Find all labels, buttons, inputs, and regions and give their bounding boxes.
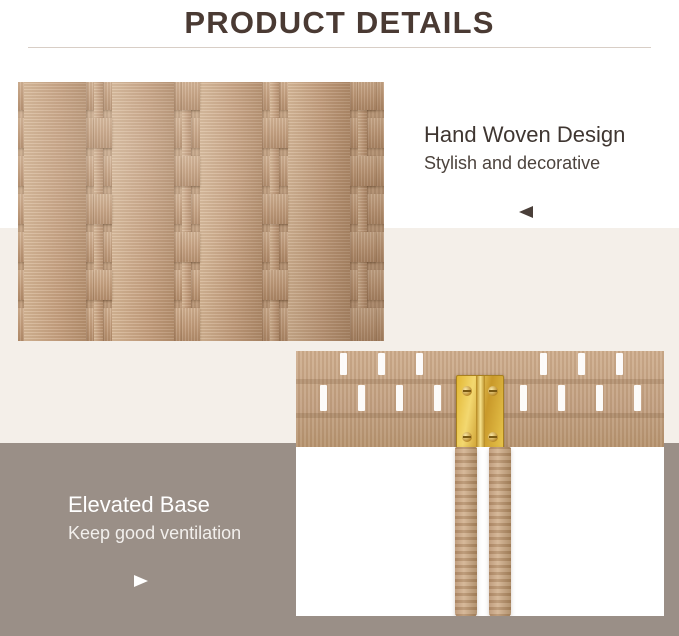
weave-slot bbox=[396, 385, 403, 411]
page-title: PRODUCT DETAILS bbox=[0, 0, 679, 46]
feature-subtitle: Stylish and decorative bbox=[424, 153, 625, 174]
header: PRODUCT DETAILS bbox=[0, 0, 679, 48]
feature-elevated-base: Elevated Base Keep good ventilation bbox=[68, 492, 241, 544]
weave-strip bbox=[270, 194, 288, 224]
weave-slot bbox=[358, 385, 365, 411]
hinge-knuckle bbox=[476, 376, 485, 452]
hinge-screw bbox=[462, 386, 472, 396]
woven-texture-photo bbox=[18, 82, 384, 341]
weave-strip bbox=[182, 82, 200, 110]
feature-hand-woven-design: Hand Woven Design Stylish and decorative bbox=[424, 122, 625, 174]
weave-slot bbox=[340, 353, 347, 375]
product-details-page: PRODUCT DETAILS bbox=[0, 0, 679, 636]
hinge-screw bbox=[488, 432, 498, 442]
weave-strip bbox=[94, 118, 112, 148]
weave-slot bbox=[434, 385, 441, 411]
weave-slot bbox=[540, 353, 547, 375]
arrow-left-icon bbox=[519, 206, 533, 218]
weave-strip bbox=[200, 82, 262, 341]
weave-strip bbox=[358, 308, 376, 341]
header-divider bbox=[28, 47, 651, 48]
weave-strip bbox=[358, 82, 367, 341]
feature-title: Elevated Base bbox=[68, 492, 241, 518]
weave-strip bbox=[270, 270, 288, 300]
weave-strip bbox=[94, 270, 112, 300]
weave-strip bbox=[358, 82, 376, 110]
feature-subtitle: Keep good ventilation bbox=[68, 523, 241, 544]
weave-slot bbox=[596, 385, 603, 411]
weave-strip bbox=[112, 82, 174, 341]
hinge-screw bbox=[462, 432, 472, 442]
arrow-right-icon bbox=[134, 575, 148, 587]
hinge-corner-photo bbox=[296, 351, 664, 616]
weave-strip bbox=[288, 82, 350, 341]
weave-strip bbox=[182, 156, 200, 186]
weave-slot bbox=[320, 385, 327, 411]
weave-strip bbox=[182, 308, 200, 341]
weave-slot bbox=[634, 385, 641, 411]
gold-hinge-icon bbox=[456, 375, 504, 453]
weave-strip bbox=[24, 82, 86, 341]
weave-strip bbox=[182, 82, 191, 341]
weave-strip bbox=[358, 232, 376, 262]
leg bbox=[455, 447, 477, 616]
hinge-photo-background bbox=[296, 447, 664, 616]
weave-strip bbox=[94, 194, 112, 224]
weave-slot bbox=[578, 353, 585, 375]
weave-slot bbox=[616, 353, 623, 375]
feature-title: Hand Woven Design bbox=[424, 122, 625, 148]
weave-slot bbox=[558, 385, 565, 411]
weave-slot bbox=[520, 385, 527, 411]
leg bbox=[489, 447, 511, 616]
hinge-screw bbox=[488, 386, 498, 396]
weave-strip bbox=[358, 156, 376, 186]
weave-slot bbox=[378, 353, 385, 375]
weave-strip bbox=[270, 118, 288, 148]
weave-slot bbox=[416, 353, 423, 375]
weave-strip bbox=[182, 232, 200, 262]
